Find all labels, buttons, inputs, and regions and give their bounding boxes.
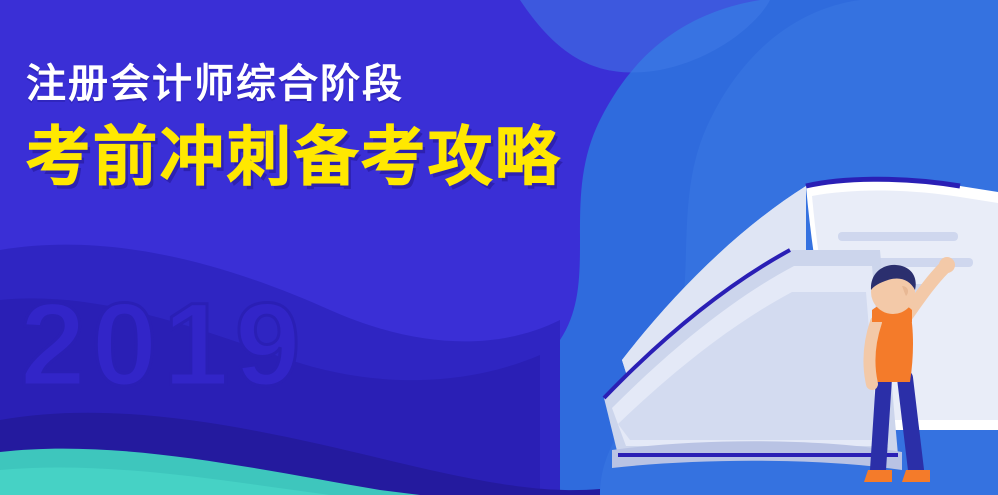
headline-subtitle: 注册会计师综合阶段 (26, 62, 562, 106)
year-text: 2019 (20, 286, 307, 404)
headline-block: 注册会计师综合阶段 考前冲刺备考攻略 (26, 62, 562, 191)
promo-banner: 2019 注册会计师综合阶段 考前冲刺备考攻略 (0, 0, 998, 495)
headline-title: 考前冲刺备考攻略 (26, 124, 562, 191)
